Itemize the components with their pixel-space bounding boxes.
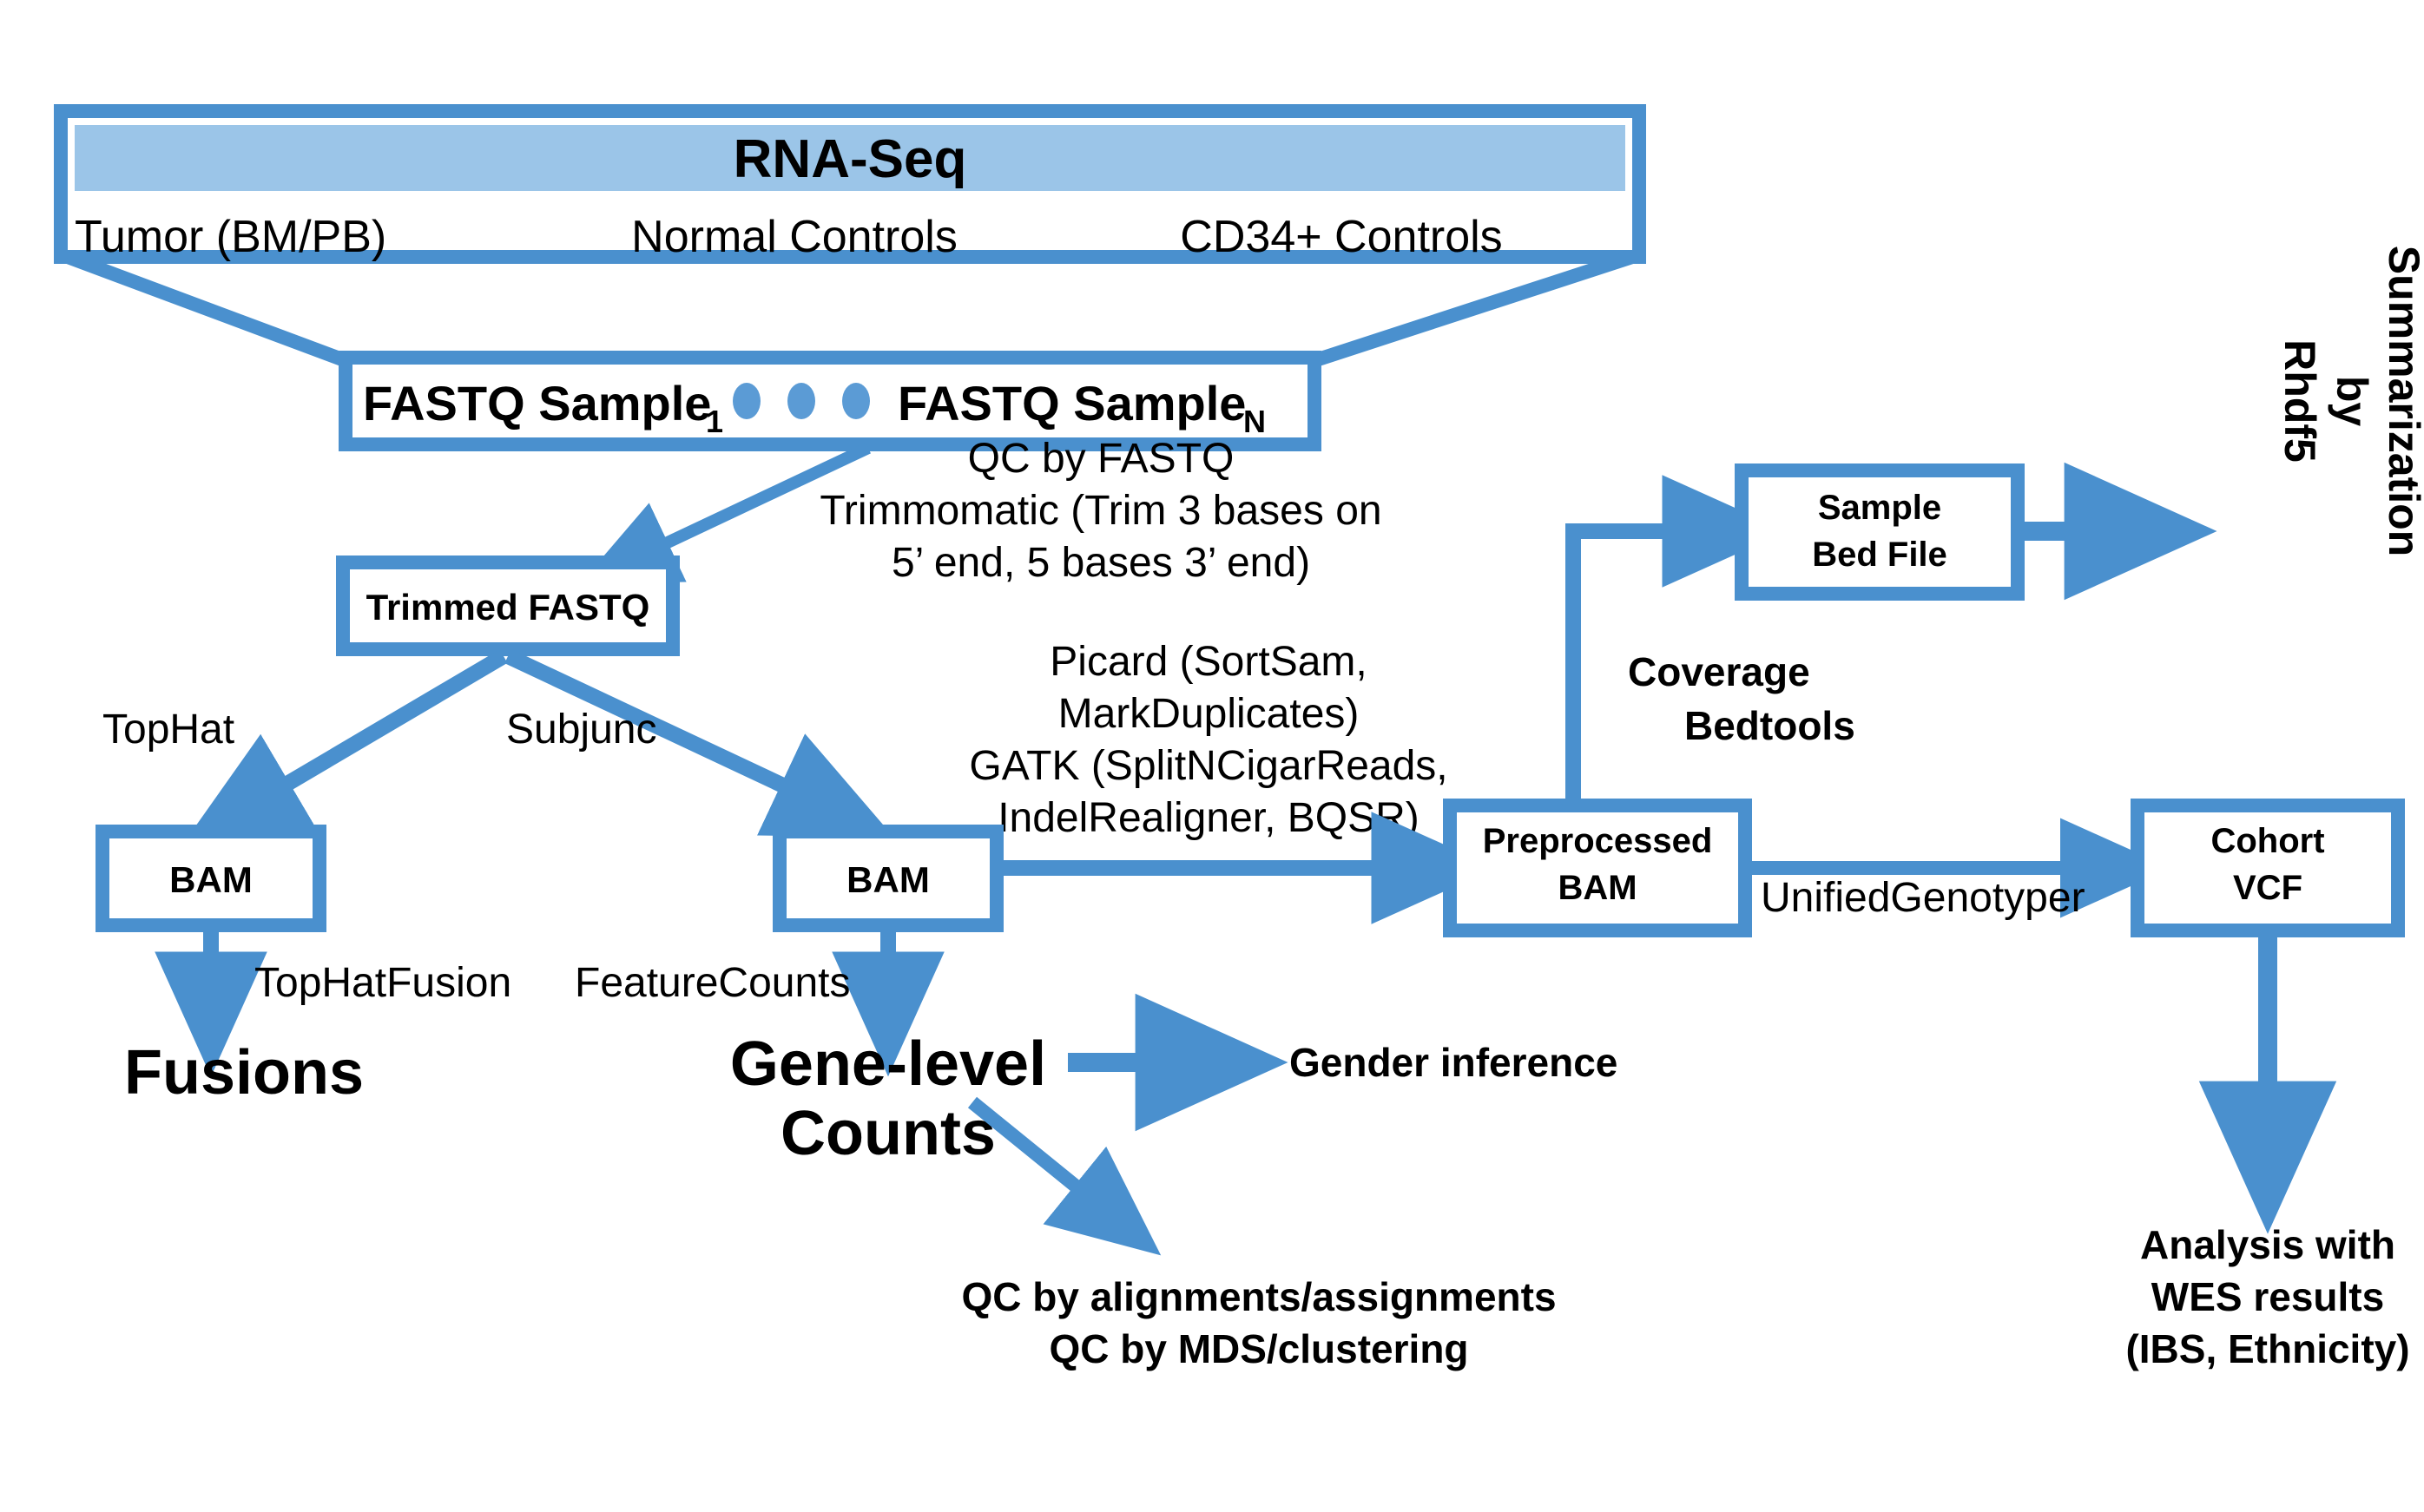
funnel-connector [68,257,1632,365]
cohort-vcf-line-2: VCF [2233,869,2302,907]
note-qc-line-2: Trimmomatic (Trim 3 bases on [820,488,1381,534]
note-picard-line-4: IndelRealigner, BQSR) [998,795,1419,841]
rnaseq-pipeline-diagram: RNA-Seq Tumor (BM/PB) Normal Controls CD… [0,0,2424,1512]
edge-label-featurecounts: FeatureCounts [575,960,851,1006]
output-gender-inference-label: Gender inference [1289,1040,1617,1085]
bam-subjunc-label: BAM [846,859,930,900]
note-picard-line-3: GATK (SplitNCigarReads, [969,743,1447,789]
node-fastq-sample: FASTQ Sample 1 FASTQ Sample N [346,358,1314,444]
node-cohort-vcf: Cohort VCF [2137,805,2398,930]
note-qc-line-1: QC by FASTQ [968,436,1235,482]
rnaseq-header-group: RNA-Seq Tumor (BM/PB) Normal Controls CD… [61,111,1639,262]
funnel-left-edge [68,257,356,365]
output-qc-counts: QC by alignments/assignments QC by MDS/c… [961,1274,1556,1371]
fastq-sample-n-label: FASTQ Sample [898,376,1246,431]
summarization-line-3: Rhdf5 [2276,339,2324,463]
note-summarization-rhdf5: Summarization by Rhdf5 [2276,246,2424,556]
ellipsis-dot-1-icon [733,383,761,419]
trimmed-fastq-label: Trimmed FASTQ [366,587,650,628]
node-bam-tophat: BAM [102,832,319,925]
output-gene-level-counts: Gene-level Counts [730,1029,1046,1168]
fastq-sample-n-subscript: N [1243,404,1266,439]
source-label-normal-controls: Normal Controls [631,212,958,262]
preprocessed-bam-line-2: BAM [1558,869,1637,907]
bam-tophat-label: BAM [169,859,253,900]
note-picard-gatk: Picard (SortSam, MarkDuplicates) GATK (S… [969,639,1447,841]
node-bam-subjunc: BAM [780,832,997,925]
summarization-line-1: Summarization [2380,246,2424,556]
edge-label-unifiedgenotyper: UnifiedGenotyper [1761,875,2085,921]
summarization-line-2: by [2328,376,2376,427]
note-qc-trimmomatic: QC by FASTQ Trimmomatic (Trim 3 bases on… [820,436,1381,586]
output-fusions-label: Fusions [124,1038,364,1108]
wes-analysis-line-2: WES results [2151,1274,2384,1319]
node-sample-bed-file: Sample Bed File [1742,470,2018,594]
edge-trimmed-to-bam-tophat [233,656,504,816]
source-label-tumor: Tumor (BM/PB) [75,212,386,262]
sample-bed-file-line-1: Sample [1818,489,1941,527]
fastq-sample-1-subscript: 1 [706,404,723,439]
ellipsis-dot-3-icon [842,383,870,419]
node-preprocessed-bam: Preprocessed BAM [1450,805,1745,930]
output-wes-analysis: Analysis with WES results (IBS, Ethnicit… [2125,1222,2409,1371]
sample-bed-file-line-2: Bed File [1812,536,1947,574]
source-label-cd34-controls: CD34+ Controls [1180,212,1502,262]
note-coverage-line-2: Bedtools [1684,703,1855,748]
pipeline-flowchart: RNA-Seq Tumor (BM/PB) Normal Controls CD… [0,0,2424,1512]
gene-level-counts-line-2: Counts [781,1099,996,1168]
note-qc-line-3: 5’ end, 5 bases 3’ end) [892,540,1310,586]
qc-counts-line-1: QC by alignments/assignments [961,1274,1556,1319]
ellipsis-dot-2-icon [787,383,815,419]
wes-analysis-line-1: Analysis with [2140,1222,2395,1267]
note-picard-line-2: MarkDuplicates) [1058,691,1360,737]
page-title: RNA-Seq [734,129,967,189]
node-trimmed-fastq: Trimmed FASTQ [343,562,673,649]
note-coverage-bedtools: Coverage Bedtools [1628,649,1855,748]
funnel-right-edge [1302,257,1632,365]
fastq-sample-1-label: FASTQ Sample [363,376,711,431]
gene-level-counts-line-1: Gene-level [730,1029,1046,1099]
wes-analysis-line-3: (IBS, Ethnicity) [2125,1326,2409,1371]
qc-counts-line-2: QC by MDS/clustering [1049,1326,1468,1371]
preprocessed-bam-line-1: Preprocessed [1483,822,1713,860]
note-picard-line-1: Picard (SortSam, [1050,639,1367,685]
edge-label-tophatfusion: TopHatFusion [254,960,511,1006]
edge-label-tophat: TopHat [102,707,234,753]
note-coverage-line-1: Coverage [1628,649,1810,694]
edge-label-subjunc: Subjunc [506,707,656,753]
cohort-vcf-line-1: Cohort [2210,822,2324,860]
